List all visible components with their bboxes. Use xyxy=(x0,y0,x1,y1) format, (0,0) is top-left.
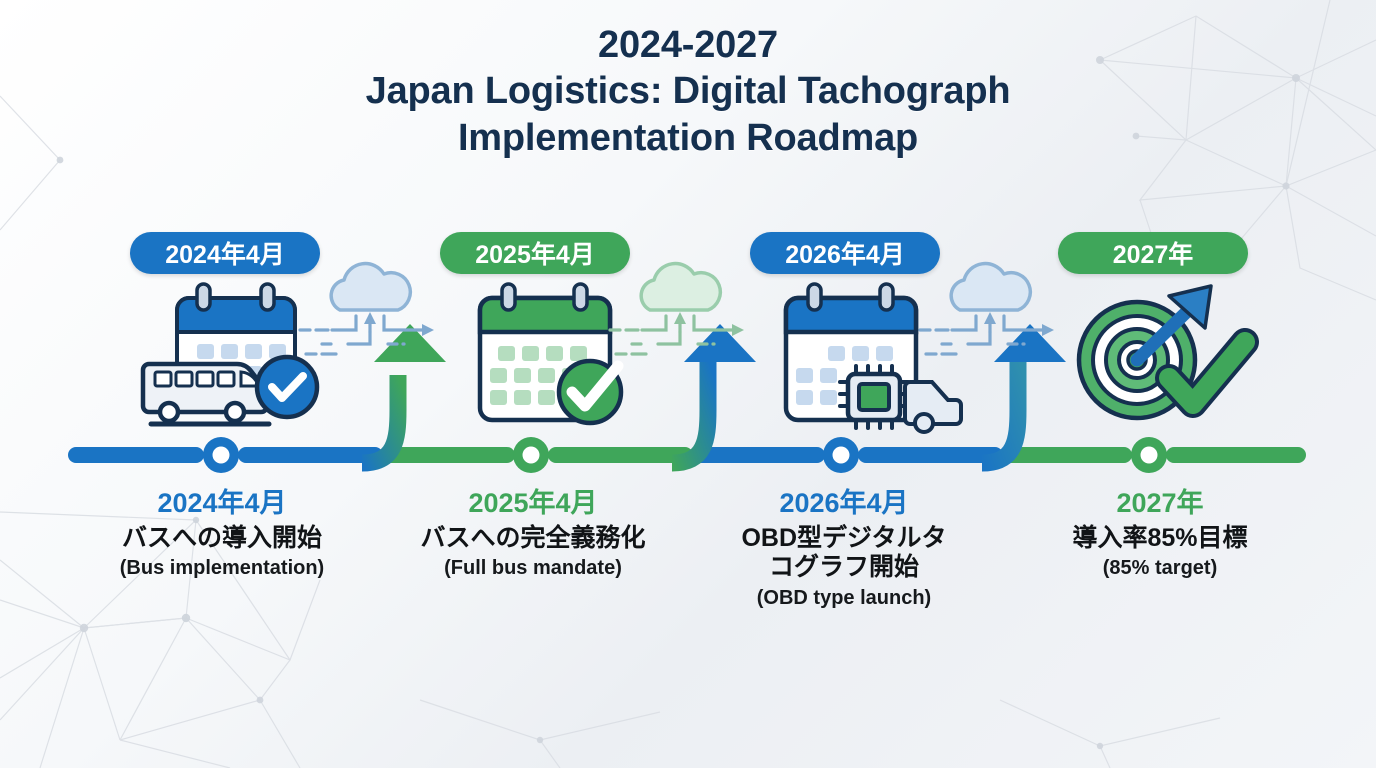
caption-title-en-2025: (Full bus mandate) xyxy=(383,555,683,581)
milestone-caption-2027: 2027年 導入率85%目標 (85% target) xyxy=(1010,488,1310,581)
timeline-segment-2025 xyxy=(380,447,515,463)
timeline-bar xyxy=(68,447,1306,463)
dataflow-lines-3 xyxy=(920,316,1044,354)
timeline-node-2026 xyxy=(823,437,859,473)
milestone-badge-2026-label: 2026年4月 xyxy=(785,235,905,271)
milestone-badge-2027[interactable]: 2027年 xyxy=(1058,232,1248,274)
cloud-icon xyxy=(331,264,410,310)
dataflow-lines-2 xyxy=(610,316,734,354)
cloud-dataflow-connector-1 xyxy=(292,258,442,378)
cloud-icon xyxy=(641,264,720,310)
milestone-caption-2024: 2024年4月 バスへの導入開始 (Bus implementation) xyxy=(72,488,372,581)
dataflow-arrow-right-1 xyxy=(422,324,434,336)
dataflow-arrow-up-3 xyxy=(984,312,996,324)
caption-date-2025: 2025年4月 xyxy=(383,488,683,520)
milestone-caption-2026: 2026年4月 OBD型デジタルタ コグラフ開始 (OBD type launc… xyxy=(694,488,994,611)
milestone-caption-2025: 2025年4月 バスへの完全義務化 (Full bus mandate) xyxy=(383,488,683,581)
caption-title-jp-2026-line2: コグラフ開始 xyxy=(694,553,994,583)
caption-title-jp-2026-line1: OBD型デジタルタ xyxy=(694,524,994,554)
caption-title-jp-2027: 導入率85%目標 xyxy=(1010,524,1310,554)
cloud-dataflow-connector-2 xyxy=(602,258,752,378)
milestone-badge-2027-label: 2027年 xyxy=(1113,235,1194,271)
timeline-segment-2026 xyxy=(690,447,825,463)
timeline-segment-2024 xyxy=(68,447,204,463)
caption-title-jp-2025: バスへの完全義務化 xyxy=(383,524,683,554)
caption-date-2024: 2024年4月 xyxy=(72,488,372,520)
caption-title-en-2024: (Bus implementation) xyxy=(72,555,372,581)
caption-date-2026: 2026年4月 xyxy=(694,488,994,520)
dataflow-arrow-up-2 xyxy=(674,312,686,324)
microchip-icon xyxy=(840,366,908,428)
dataflow-arrow-right-3 xyxy=(1042,324,1054,336)
dataflow-lines-1 xyxy=(300,316,424,354)
caption-date-2027: 2027年 xyxy=(1010,488,1310,520)
cloud-icon xyxy=(951,264,1030,310)
timeline-node-2024 xyxy=(203,437,239,473)
truck-icon xyxy=(905,382,961,432)
milestone-badge-2025-label: 2025年4月 xyxy=(475,235,595,271)
cloud-dataflow-connector-3 xyxy=(912,258,1062,378)
timeline-node-2027 xyxy=(1131,437,1167,473)
timeline-segment-2027 xyxy=(1000,447,1132,463)
dataflow-arrow-up-1 xyxy=(364,312,376,324)
timeline-node-2025 xyxy=(513,437,549,473)
infographic-canvas: 2024-2027 Japan Logistics: Digital Tacho… xyxy=(0,0,1376,768)
dataflow-arrow-right-2 xyxy=(732,324,744,336)
caption-title-jp-2024: バスへの導入開始 xyxy=(72,524,372,554)
caption-title-en-2027: (85% target) xyxy=(1010,555,1310,581)
caption-title-en-2026: (OBD type launch) xyxy=(694,585,994,611)
milestone-badge-2024-label: 2024年4月 xyxy=(165,235,285,271)
milestone-icons-2027 xyxy=(1065,282,1275,437)
bus-icon xyxy=(143,364,269,424)
